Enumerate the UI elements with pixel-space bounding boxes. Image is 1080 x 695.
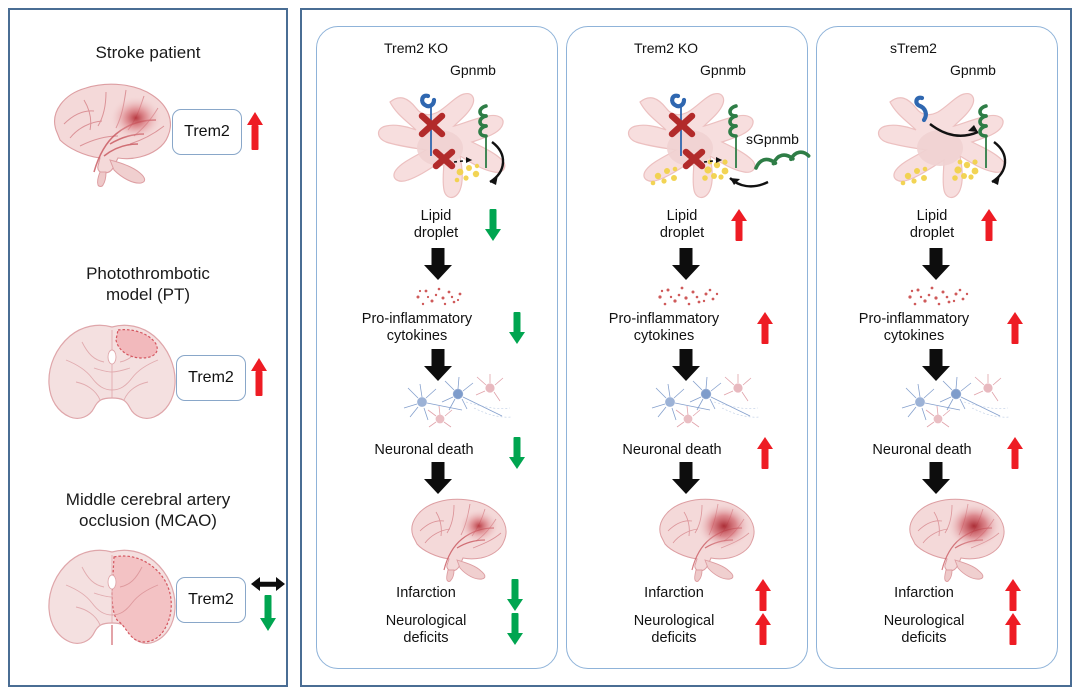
stroke-patient-title: Stroke patient	[28, 42, 268, 63]
lipid-droplet-arrow-p2	[730, 209, 748, 241]
coronal-mouse-brain-mcao-lesion	[42, 545, 182, 657]
coronal-mouse-brain-cortical-lesion	[42, 320, 182, 432]
brain-infarct-p2	[648, 494, 766, 582]
step-label-p2-4-line1: Neurological	[604, 613, 744, 630]
trem2-unchanged-arrow-mcao	[251, 577, 285, 591]
receptor-label-p1: Trem2 KO	[384, 40, 448, 56]
trem2-up-arrow-photothrombotic	[250, 358, 268, 396]
photothrombotic-title-line2: model (PT)	[28, 284, 268, 305]
cascade-arrow-p3-1	[922, 248, 950, 280]
microglia-cell-p2	[580, 72, 796, 222]
step-label-p2-1-line2: cytokines	[580, 328, 748, 345]
step-label-p2-0-line1: Lipid	[638, 208, 726, 225]
trem2-up-arrow-stroke-patient	[246, 112, 264, 150]
neuro-deficits-arrow-p2	[754, 613, 772, 645]
step-label-p1-4-line1: Neurological	[356, 613, 496, 630]
photothrombotic-title-line1: Photothrombotic	[28, 263, 268, 284]
step-label-p2-1-line1: Pro-inflammatory	[580, 311, 748, 328]
step-label-p3-3-line1: Infarction	[854, 585, 994, 602]
neuron-cluster-p1	[396, 372, 526, 430]
cascade-arrow-p3-3	[922, 462, 950, 494]
step-label-p1-1-line1: Pro-inflammatory	[333, 311, 501, 328]
step-label-p3-1-line2: cytokines	[830, 328, 998, 345]
neuronal-death-arrow-p1	[508, 437, 526, 469]
step-label-p1-0-line2: droplet	[392, 225, 480, 242]
neuronal-death-arrow-p2	[756, 437, 774, 469]
mcao-title-line2: occlusion (MCAO)	[20, 510, 276, 531]
lipid-droplet-arrow-p1	[484, 209, 502, 241]
neuro-deficits-arrow-p1	[506, 613, 524, 645]
lipid-droplet-arrow-p3	[980, 209, 998, 241]
infarction-arrow-p2	[754, 579, 772, 611]
trem2-box-stroke-patient[interactable]: Trem2	[172, 109, 242, 155]
neuron-cluster-p2	[644, 372, 774, 430]
cytokine-dots-p2	[652, 283, 724, 311]
step-label-p1-2-line1: Neuronal death	[348, 442, 500, 459]
step-label-p1-3-line1: Infarction	[356, 585, 496, 602]
step-label-p3-2-line1: Neuronal death	[846, 442, 998, 459]
cascade-arrow-p2-1	[672, 248, 700, 280]
cascade-arrow-p1-3	[424, 462, 452, 494]
cytokines-arrow-p2	[756, 312, 774, 344]
brain-infarct-p1	[400, 494, 518, 582]
cytokines-arrow-p1	[508, 312, 526, 344]
sagittal-human-brain-with-infarct	[40, 78, 185, 188]
mcao-title-line1: Middle cerebral artery	[20, 489, 276, 510]
cascade-arrow-p1-1	[424, 248, 452, 280]
cytokine-dots-p3	[902, 283, 974, 311]
step-label-p2-0-line2: droplet	[638, 225, 726, 242]
cascade-arrow-p2-3	[672, 462, 700, 494]
cytokine-dots-p1	[408, 283, 470, 311]
microglia-cell-p1	[330, 72, 546, 222]
neuro-deficits-arrow-p3	[1004, 613, 1022, 645]
infarction-arrow-p1	[506, 579, 524, 611]
neuronal-death-arrow-p3	[1006, 437, 1024, 469]
trem2-box-mcao[interactable]: Trem2	[176, 577, 246, 623]
microglia-cell-p3	[830, 72, 1046, 222]
step-label-p1-1-line2: cytokines	[333, 328, 501, 345]
brain-infarct-p3	[898, 494, 1016, 582]
step-label-p1-0-line1: Lipid	[392, 208, 480, 225]
trem2-box-photothrombotic[interactable]: Trem2	[176, 355, 246, 401]
receptor-label-p3: sTrem2	[890, 40, 937, 56]
infarction-arrow-p3	[1004, 579, 1022, 611]
step-label-p2-4-line2: deficits	[604, 630, 744, 647]
step-label-p3-4-line1: Neurological	[854, 613, 994, 630]
step-label-p2-2-line1: Neuronal death	[596, 442, 748, 459]
step-label-p3-1-line1: Pro-inflammatory	[830, 311, 998, 328]
neuron-cluster-p3	[894, 372, 1024, 430]
figure-canvas: Stroke patient	[0, 0, 1080, 695]
step-label-p1-4-line2: deficits	[356, 630, 496, 647]
step-label-p3-0-line2: droplet	[888, 225, 976, 242]
step-label-p3-0-line1: Lipid	[888, 208, 976, 225]
step-label-p2-3-line1: Infarction	[604, 585, 744, 602]
trem2-down-arrow-mcao	[259, 595, 277, 631]
cytokines-arrow-p3	[1006, 312, 1024, 344]
receptor-label-p2: Trem2 KO	[634, 40, 698, 56]
step-label-p3-4-line2: deficits	[854, 630, 994, 647]
